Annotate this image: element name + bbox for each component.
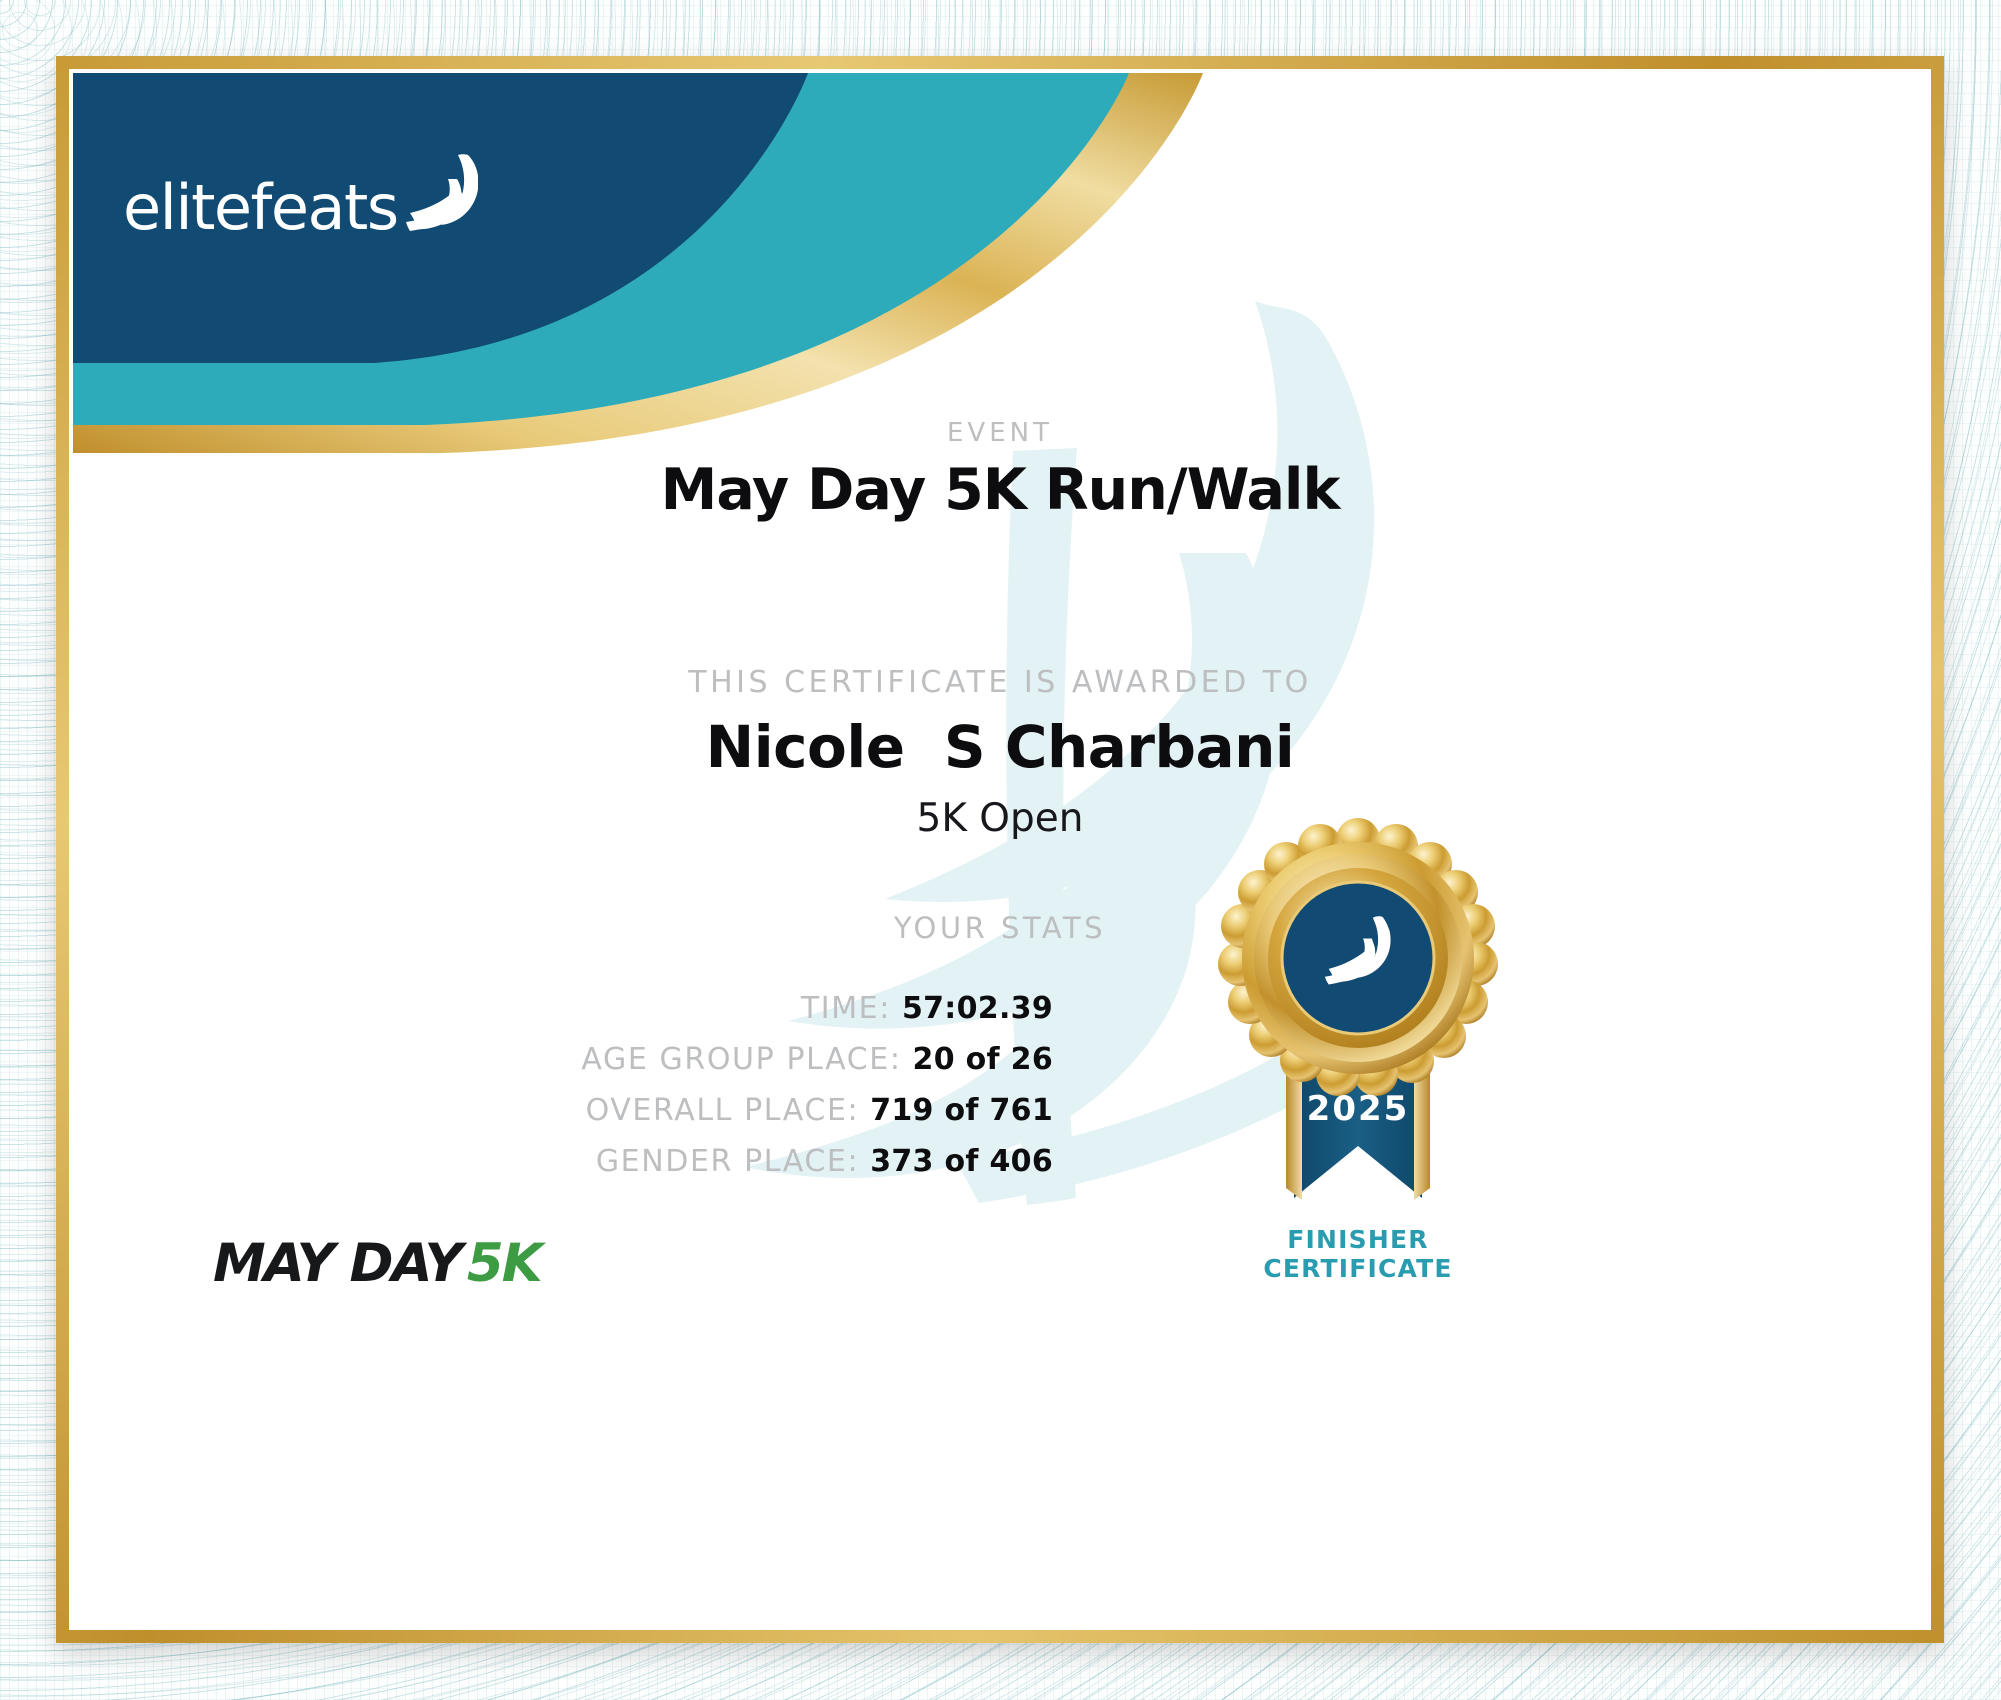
seal-caption: FINISHER CERTIFICATE — [1208, 1226, 1508, 1284]
awarded-to-label: THIS CERTIFICATE IS AWARDED TO — [73, 665, 1927, 700]
seal-graphic: 2025 — [1208, 808, 1508, 1238]
stat-value: 20 of 26 — [913, 1042, 1053, 1077]
stat-label: TIME: — [801, 991, 891, 1026]
seal-year: 2025 — [1307, 1089, 1410, 1129]
event-sponsor-logo: MAY DAY 5K — [213, 1233, 541, 1294]
certificate-face: elitefeats EVENT May Day 5K Run/Walk THI… — [73, 73, 1927, 1626]
stats-label: YOUR STATS — [73, 911, 1927, 945]
event-label: EVENT — [73, 418, 1927, 448]
recipient-name: Nicole S Charbani — [73, 713, 1927, 781]
stat-row: AGE GROUP PLACE: 20 of 26 — [73, 1042, 1053, 1093]
stat-label: OVERALL PLACE: — [586, 1093, 860, 1128]
stat-value: 57:02.39 — [902, 991, 1053, 1026]
event-name: May Day 5K Run/Walk — [73, 457, 1927, 523]
stat-label: GENDER PLACE: — [596, 1144, 859, 1179]
seal-caption-line2: CERTIFICATE — [1208, 1255, 1508, 1284]
finisher-seal: 2025 FINISHER CERTIFICATE — [1208, 808, 1508, 1328]
stats-list: TIME: 57:02.39 AGE GROUP PLACE: 20 of 26… — [73, 991, 1053, 1195]
stat-row: GENDER PLACE: 373 of 406 — [73, 1144, 1053, 1195]
division-name: 5K Open — [73, 796, 1927, 841]
stat-row: OVERALL PLACE: 719 of 761 — [73, 1093, 1053, 1144]
stat-value: 373 of 406 — [870, 1144, 1053, 1179]
certificate-card: elitefeats EVENT May Day 5K Run/Walk THI… — [56, 56, 1944, 1643]
event-logo-accent: 5K — [467, 1233, 541, 1294]
event-logo-primary: MAY DAY — [213, 1233, 461, 1294]
stat-value: 719 of 761 — [870, 1093, 1053, 1128]
stat-row: TIME: 57:02.39 — [73, 991, 1053, 1042]
seal-caption-line1: FINISHER — [1208, 1226, 1508, 1255]
stat-label: AGE GROUP PLACE: — [581, 1042, 901, 1077]
